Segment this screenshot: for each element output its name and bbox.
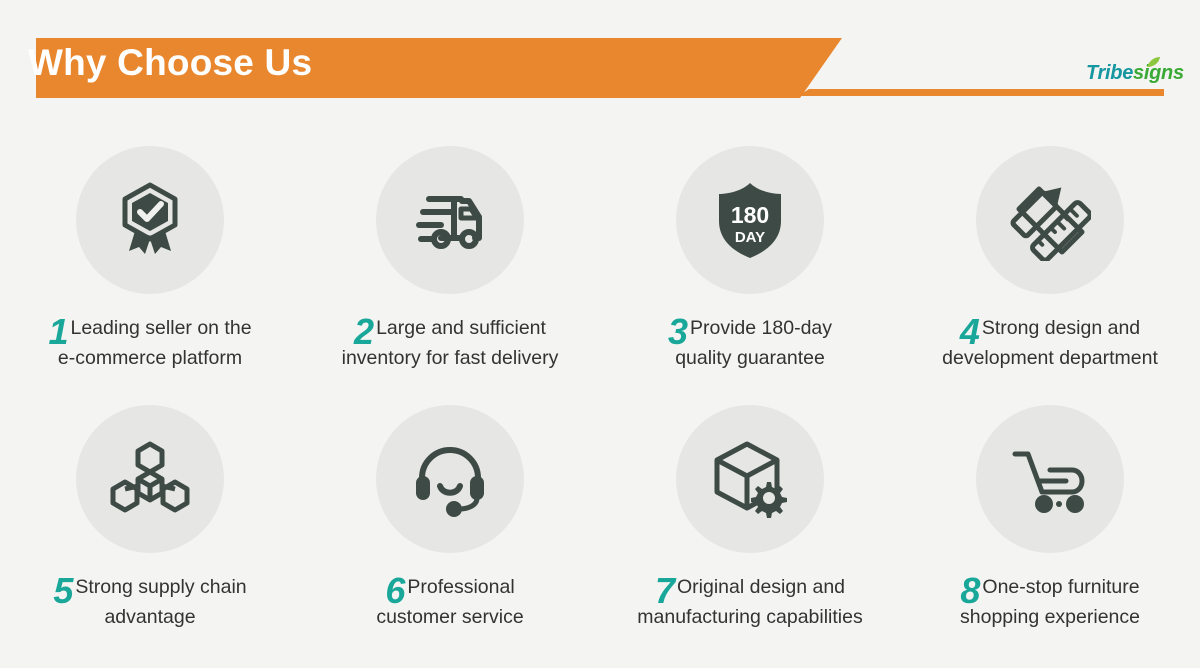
page-title: Why Choose Us <box>28 42 312 84</box>
icon-circle <box>676 405 824 553</box>
feature-number: 2 <box>354 314 374 350</box>
feature-item-7[interactable]: 7Original design andmanufacturing capabi… <box>600 389 900 648</box>
feature-item-3[interactable]: 180 DAY 3Provide 180-dayquality guarante… <box>600 130 900 389</box>
shopping-cart-icon <box>1009 438 1091 520</box>
shield-180-day-icon: 180 DAY <box>710 179 790 261</box>
feature-caption: 5Strong supply chainadvantage <box>0 569 300 630</box>
feature-caption: 8One-stop furnitureshopping experience <box>900 569 1200 630</box>
brand-logo-part1: Tribe <box>1086 62 1133 84</box>
icon-circle <box>976 405 1124 553</box>
feature-item-4[interactable]: 4Strong design anddevelopment department <box>900 130 1200 389</box>
award-badge-check-icon <box>109 179 191 261</box>
feature-item-6[interactable]: 6Professionalcustomer service <box>300 389 600 648</box>
feature-item-8[interactable]: 8One-stop furnitureshopping experience <box>900 389 1200 648</box>
icon-circle <box>376 146 524 294</box>
feature-line2: quality guarantee <box>604 346 896 371</box>
feature-number: 3 <box>668 314 688 350</box>
shield-day-text: DAY <box>735 229 765 246</box>
feature-number: 8 <box>960 573 980 609</box>
feature-caption: 2Large and sufficientinventory for fast … <box>300 310 600 371</box>
feature-line2: customer service <box>304 605 596 630</box>
icon-circle: 180 DAY <box>676 146 824 294</box>
feature-number: 6 <box>385 573 405 609</box>
feature-line1: Strong design and <box>982 317 1140 339</box>
feature-line2: shopping experience <box>904 605 1196 630</box>
box-gear-manufacturing-icon <box>709 438 791 520</box>
feature-caption: 7Original design andmanufacturing capabi… <box>600 569 900 630</box>
feature-caption: 6Professionalcustomer service <box>300 569 600 630</box>
feature-item-1[interactable]: 1Leading seller on thee-commerce platfor… <box>0 130 300 389</box>
feature-caption: 1Leading seller on thee-commerce platfor… <box>0 310 300 371</box>
feature-number: 5 <box>53 573 73 609</box>
shield-number-text: 180 <box>731 202 769 228</box>
feature-item-2[interactable]: 2Large and sufficientinventory for fast … <box>300 130 600 389</box>
icon-circle <box>76 146 224 294</box>
feature-number: 4 <box>960 314 980 350</box>
feature-line2: advantage <box>4 605 296 630</box>
feature-line2: inventory for fast delivery <box>304 346 596 371</box>
ruler-pencil-icon <box>1009 179 1091 261</box>
leaf-icon <box>1146 57 1161 68</box>
feature-caption: 4Strong design anddevelopment department <box>900 310 1200 371</box>
feature-number: 1 <box>48 314 68 350</box>
icon-circle <box>376 405 524 553</box>
feature-line1: Professional <box>407 576 514 598</box>
icon-circle <box>76 405 224 553</box>
feature-line2: manufacturing capabilities <box>604 605 896 630</box>
feature-line1: Original design and <box>677 576 845 598</box>
fast-delivery-truck-icon <box>409 179 491 261</box>
feature-line1: Large and sufficient <box>376 317 546 339</box>
feature-item-5[interactable]: 5Strong supply chainadvantage <box>0 389 300 648</box>
feature-caption: 3Provide 180-dayquality guarantee <box>600 310 900 371</box>
headset-support-icon <box>409 438 491 520</box>
feature-line1: One-stop furniture <box>982 576 1139 598</box>
feature-line2: development department <box>904 346 1196 371</box>
icon-circle <box>976 146 1124 294</box>
page-header: Why Choose Us Tribesigns <box>0 0 1200 128</box>
brand-logo: Tribesigns <box>1086 62 1184 85</box>
feature-line1: Leading seller on the <box>70 317 251 339</box>
features-grid: 1Leading seller on thee-commerce platfor… <box>0 130 1200 668</box>
header-accent-rule <box>798 89 1164 96</box>
hexagon-network-icon <box>109 438 191 520</box>
feature-line1: Strong supply chain <box>75 576 246 598</box>
feature-number: 7 <box>655 573 675 609</box>
feature-line1: Provide 180-day <box>690 317 832 339</box>
